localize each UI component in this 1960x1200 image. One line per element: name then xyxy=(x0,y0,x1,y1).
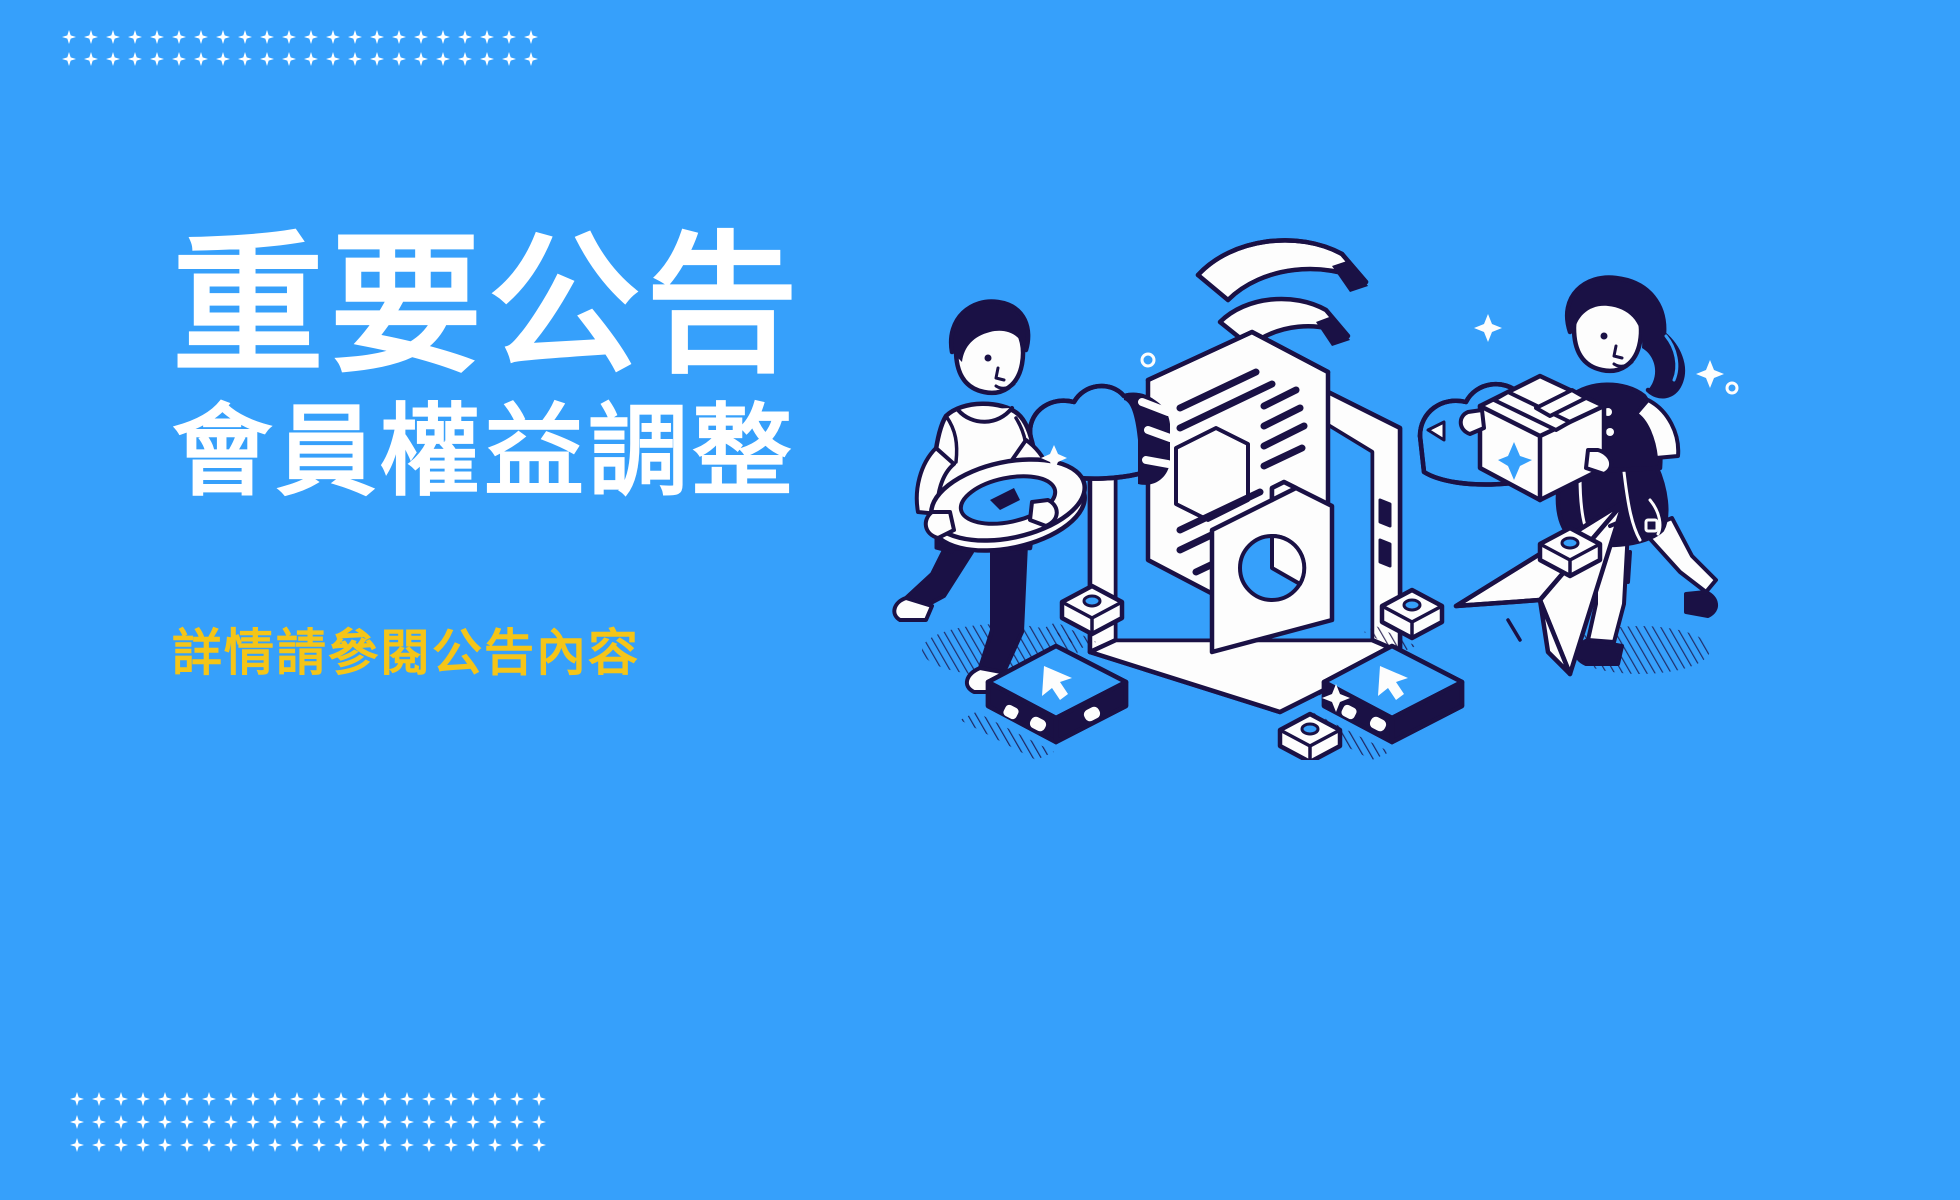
diamond-dot-icon xyxy=(356,1092,370,1106)
diamond-dot-icon xyxy=(84,52,98,66)
diamond-dot-icon xyxy=(312,1115,326,1129)
diamond-dot-icon xyxy=(422,1138,436,1152)
diamond-dot-icon xyxy=(326,30,340,44)
diamond-dot-icon xyxy=(84,30,98,44)
diamond-dot-icon xyxy=(290,1092,304,1106)
diamond-dot-icon xyxy=(458,30,472,44)
diamond-dot-icon xyxy=(224,1138,238,1152)
diamond-dot-icon xyxy=(466,1115,480,1129)
top-dot-pattern-row xyxy=(62,52,546,66)
bottom-dot-pattern-row xyxy=(70,1092,554,1106)
text-block: 重要公告 會員權益調整 詳情請參閱公告內容 xyxy=(172,230,932,685)
diamond-dot-icon xyxy=(128,30,142,44)
diamond-dot-icon xyxy=(466,1092,480,1106)
diamond-dot-icon xyxy=(172,52,186,66)
diamond-dot-icon xyxy=(510,1138,524,1152)
diamond-dot-icon xyxy=(400,1138,414,1152)
diamond-dot-icon xyxy=(180,1115,194,1129)
diamond-dot-icon xyxy=(62,52,76,66)
diamond-dot-icon xyxy=(414,52,428,66)
diamond-dot-icon xyxy=(114,1138,128,1152)
diamond-dot-icon xyxy=(216,30,230,44)
diamond-dot-icon xyxy=(356,1138,370,1152)
diamond-dot-icon xyxy=(524,30,538,44)
diamond-dot-icon xyxy=(158,1092,172,1106)
diamond-dot-icon xyxy=(136,1138,150,1152)
diamond-dot-icon xyxy=(422,1092,436,1106)
diamond-dot-icon xyxy=(92,1138,106,1152)
diamond-dot-icon xyxy=(282,52,296,66)
diamond-dot-icon xyxy=(150,30,164,44)
diamond-dot-icon xyxy=(114,1115,128,1129)
diamond-dot-icon xyxy=(510,1092,524,1106)
diamond-dot-icon xyxy=(194,52,208,66)
diamond-dot-icon xyxy=(488,1138,502,1152)
diamond-dot-icon xyxy=(400,1092,414,1106)
diamond-dot-icon xyxy=(62,30,76,44)
diamond-dot-icon xyxy=(150,52,164,66)
bottom-dot-pattern-row xyxy=(70,1115,554,1129)
diamond-dot-icon xyxy=(312,1092,326,1106)
diamond-dot-icon xyxy=(370,52,384,66)
top-dot-pattern-row xyxy=(62,30,546,44)
diamond-dot-icon xyxy=(488,1092,502,1106)
diamond-dot-icon xyxy=(422,1115,436,1129)
diamond-dot-icon xyxy=(158,1115,172,1129)
diamond-dot-icon xyxy=(532,1092,546,1106)
diamond-dot-icon xyxy=(348,30,362,44)
diamond-dot-icon xyxy=(392,30,406,44)
diamond-dot-icon xyxy=(246,1138,260,1152)
diamond-dot-icon xyxy=(216,52,230,66)
diamond-dot-icon xyxy=(444,1138,458,1152)
diamond-dot-icon xyxy=(246,1115,260,1129)
diamond-dot-icon xyxy=(128,52,142,66)
diamond-dot-icon xyxy=(158,1138,172,1152)
diamond-dot-icon xyxy=(70,1138,84,1152)
diamond-dot-icon xyxy=(304,30,318,44)
diamond-dot-icon xyxy=(238,30,252,44)
diamond-dot-icon xyxy=(268,1138,282,1152)
diamond-dot-icon xyxy=(136,1115,150,1129)
diamond-dot-icon xyxy=(400,1115,414,1129)
diamond-dot-icon xyxy=(114,1092,128,1106)
diamond-dot-icon xyxy=(480,52,494,66)
hero-illustration xyxy=(880,200,1940,760)
diamond-dot-icon xyxy=(290,1115,304,1129)
diamond-dot-icon xyxy=(106,30,120,44)
diamond-dot-icon xyxy=(326,52,340,66)
diamond-dot-icon xyxy=(532,1138,546,1152)
diamond-dot-icon xyxy=(444,1115,458,1129)
diamond-dot-icon xyxy=(480,30,494,44)
diamond-dot-icon xyxy=(224,1115,238,1129)
diamond-dot-icon xyxy=(136,1092,150,1106)
diamond-dot-icon xyxy=(444,1092,458,1106)
diamond-dot-icon xyxy=(202,1115,216,1129)
diamond-dot-icon xyxy=(268,1115,282,1129)
diamond-dot-icon xyxy=(304,52,318,66)
diamond-dot-icon xyxy=(334,1115,348,1129)
diamond-dot-icon xyxy=(312,1138,326,1152)
diamond-dot-icon xyxy=(92,1092,106,1106)
diamond-dot-icon xyxy=(180,1138,194,1152)
diamond-dot-icon xyxy=(510,1115,524,1129)
diamond-dot-icon xyxy=(260,52,274,66)
diamond-dot-icon xyxy=(502,52,516,66)
diamond-dot-icon xyxy=(524,52,538,66)
diamond-dot-icon xyxy=(466,1138,480,1152)
diamond-dot-icon xyxy=(194,30,208,44)
diamond-dot-icon xyxy=(334,1092,348,1106)
diamond-dot-icon xyxy=(488,1115,502,1129)
bottom-dot-pattern-row xyxy=(70,1138,554,1152)
diamond-dot-icon xyxy=(202,1092,216,1106)
diamond-dot-icon xyxy=(436,30,450,44)
diamond-dot-icon xyxy=(180,1092,194,1106)
diamond-dot-icon xyxy=(370,30,384,44)
diamond-dot-icon xyxy=(290,1138,304,1152)
diamond-dot-icon xyxy=(70,1092,84,1106)
diamond-dot-icon xyxy=(202,1138,216,1152)
diamond-dot-icon xyxy=(106,52,120,66)
diamond-dot-icon xyxy=(246,1092,260,1106)
diamond-dot-icon xyxy=(334,1138,348,1152)
bottom-dot-pattern xyxy=(70,1092,554,1161)
diamond-dot-icon xyxy=(392,52,406,66)
diamond-dot-icon xyxy=(238,52,252,66)
caption-text: 詳情請參閱公告內容 xyxy=(172,613,932,685)
diamond-dot-icon xyxy=(436,52,450,66)
page-subtitle: 會員權益調整 xyxy=(172,400,932,505)
diamond-dot-icon xyxy=(260,30,274,44)
diamond-dot-icon xyxy=(502,30,516,44)
diamond-dot-icon xyxy=(378,1138,392,1152)
diamond-dot-icon xyxy=(268,1092,282,1106)
diamond-dot-icon xyxy=(414,30,428,44)
diamond-dot-icon xyxy=(92,1115,106,1129)
diamond-dot-icon xyxy=(356,1115,370,1129)
diamond-dot-icon xyxy=(172,30,186,44)
page-title: 重要公告 xyxy=(172,230,932,382)
diamond-dot-icon xyxy=(378,1115,392,1129)
diamond-dot-icon xyxy=(70,1115,84,1129)
diamond-dot-icon xyxy=(282,30,296,44)
diamond-dot-icon xyxy=(458,52,472,66)
diamond-dot-icon xyxy=(224,1092,238,1106)
diamond-dot-icon xyxy=(348,52,362,66)
diamond-dot-icon xyxy=(378,1092,392,1106)
top-dot-pattern xyxy=(62,30,546,74)
diamond-dot-icon xyxy=(532,1115,546,1129)
